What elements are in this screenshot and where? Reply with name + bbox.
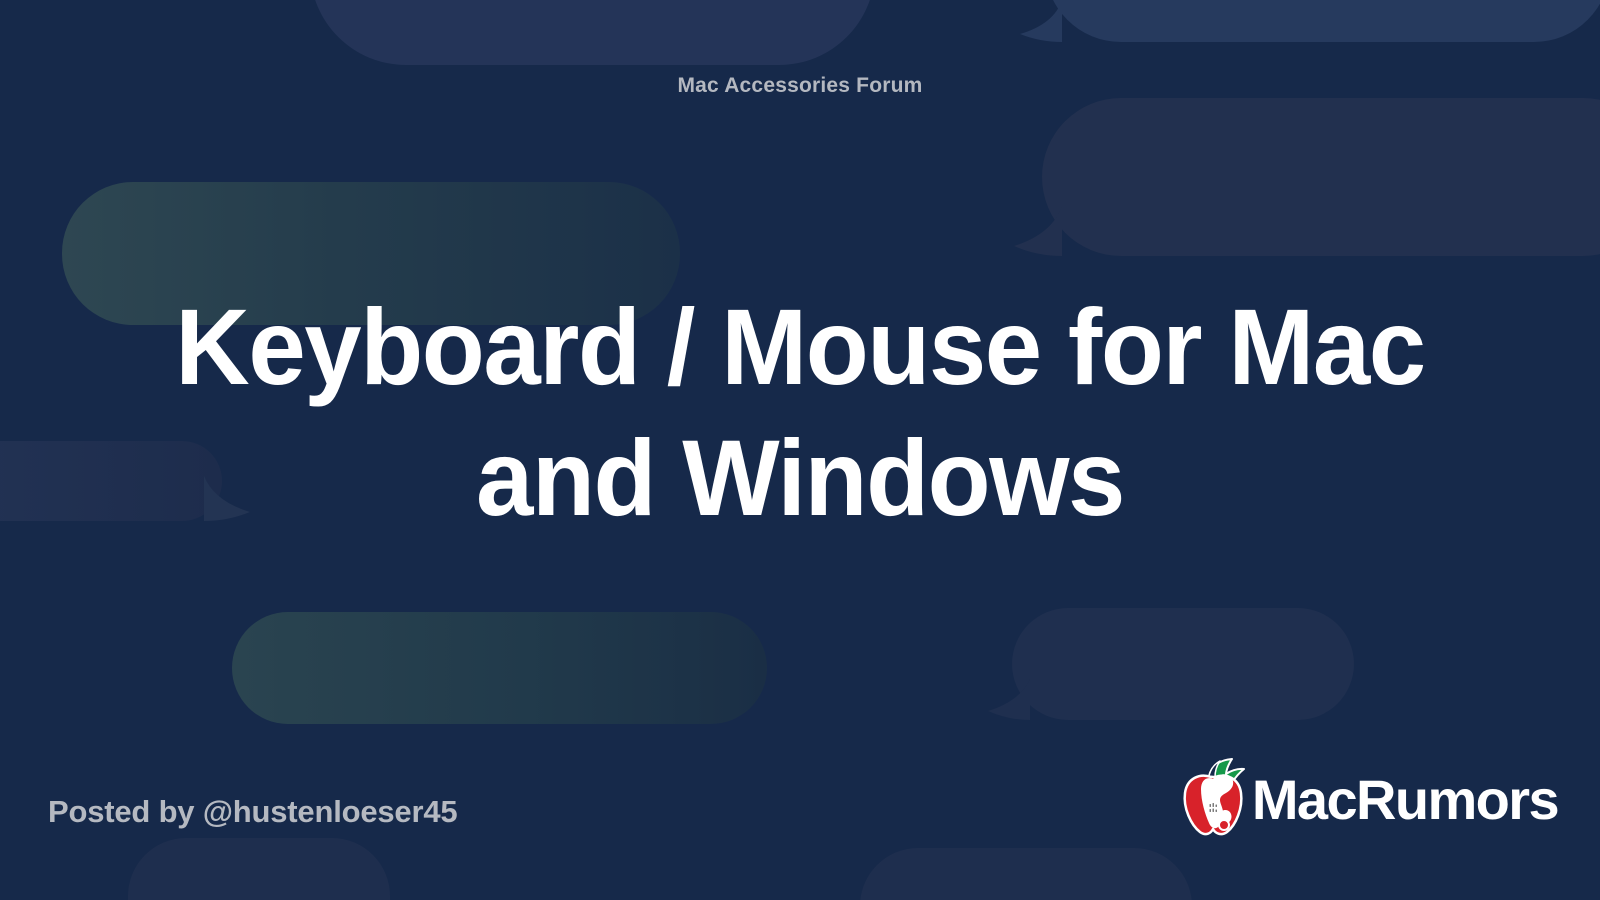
title-block: Keyboard / Mouse for Mac and Windows bbox=[100, 282, 1500, 543]
page-title: Keyboard / Mouse for Mac and Windows bbox=[132, 282, 1469, 543]
macrumors-apple-logo-icon bbox=[1180, 758, 1246, 838]
posted-by-attribution: Posted by @hustenloeser45 bbox=[48, 794, 457, 830]
macrumors-wordmark: MacRumors bbox=[1252, 772, 1558, 828]
social-share-card: Mac Accessories Forum Keyboard / Mouse f… bbox=[0, 0, 1600, 900]
macrumors-brand: MacRumors bbox=[1180, 758, 1558, 838]
card-content: Mac Accessories Forum Keyboard / Mouse f… bbox=[0, 0, 1600, 900]
forum-label: Mac Accessories Forum bbox=[0, 74, 1600, 98]
